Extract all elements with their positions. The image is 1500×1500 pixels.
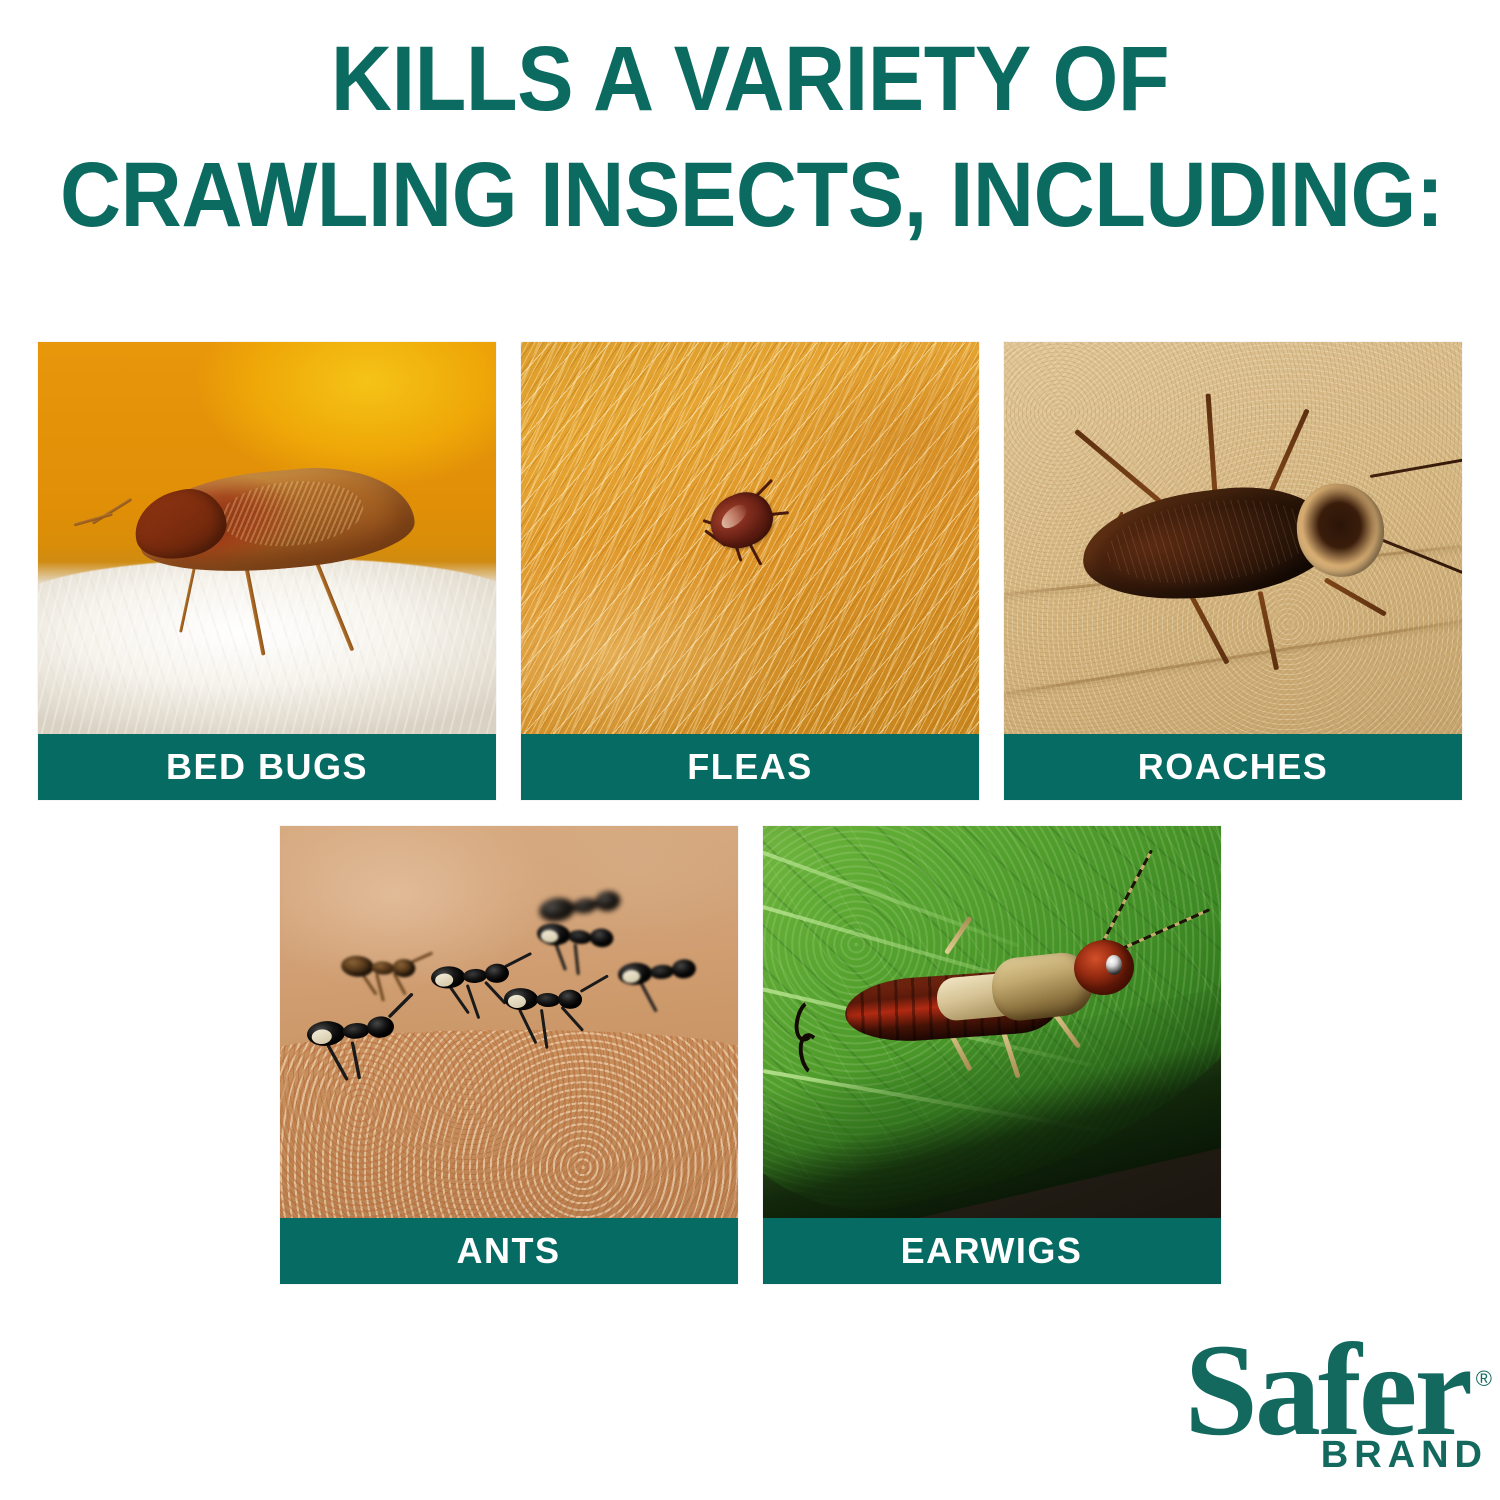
- caption-bar-bed-bugs: BED BUGS: [38, 734, 496, 800]
- ant-head: [366, 1015, 395, 1039]
- flea-photo: [521, 342, 979, 734]
- roach-photo: [1004, 342, 1462, 734]
- pest-tile-ants[interactable]: ANTS: [280, 826, 738, 1284]
- headline-line-2: CRAWLING INSECTS, INCLUDING:: [60, 138, 1440, 254]
- caption-bar-earwigs: EARWIGS: [763, 1218, 1221, 1284]
- pest-tile-bed-bugs[interactable]: BED BUGS: [38, 342, 496, 800]
- caption-bar-roaches: ROACHES: [1004, 734, 1462, 800]
- pest-tile-fleas[interactable]: FLEAS: [521, 342, 979, 800]
- flea-tick-figure: [700, 479, 787, 561]
- ant-abdomen: [341, 955, 375, 978]
- registered-trademark-icon: ®: [1476, 1368, 1492, 1390]
- caption-bar-ants: ANTS: [280, 1218, 738, 1284]
- pest-tile-grid: BED BUGS FLEAS: [0, 342, 1500, 1284]
- ant-head: [593, 889, 621, 912]
- sand-grain-foreground: [280, 1030, 738, 1218]
- ant-thorax: [462, 969, 487, 984]
- earwig-eye: [1106, 955, 1122, 975]
- flea-body: [702, 484, 780, 556]
- white-fabric-shape: [38, 558, 496, 734]
- earwig-photo: [763, 826, 1221, 1218]
- ant-figure: [617, 952, 705, 992]
- ants-photo: [280, 826, 738, 1218]
- headline-line-1: KILLS A VARIETY OF: [60, 22, 1440, 138]
- caption-bar-fleas: FLEAS: [521, 734, 979, 800]
- caption-label: ROACHES: [1138, 746, 1329, 788]
- ant-gaster-highlight: [508, 994, 526, 1008]
- page-title: KILLS A VARIETY OF CRAWLING INSECTS, INC…: [0, 22, 1500, 254]
- caption-label: ANTS: [457, 1230, 561, 1272]
- bed-bug-photo: [38, 342, 496, 734]
- logo-tagline: BRAND: [1321, 1436, 1488, 1474]
- caption-label: BED BUGS: [166, 746, 368, 788]
- ant-figure: [503, 981, 590, 1018]
- ant-head: [558, 989, 583, 1009]
- ant-thorax: [571, 897, 598, 915]
- ant-head: [672, 959, 697, 980]
- caption-label: FLEAS: [687, 746, 813, 788]
- ant-head: [589, 927, 614, 948]
- pest-tile-earwigs[interactable]: EARWIGS: [763, 826, 1221, 1284]
- pest-tile-row-bottom: ANTS: [0, 826, 1500, 1284]
- ant-thorax: [342, 1022, 370, 1040]
- ant-figure: [340, 949, 424, 987]
- pest-tile-roaches[interactable]: ROACHES: [1004, 342, 1462, 800]
- ant-thorax: [568, 929, 593, 945]
- safer-brand-logo: Safer ® BRAND: [1162, 1324, 1492, 1494]
- ant-thorax: [536, 992, 560, 1007]
- pest-tile-row-top: BED BUGS FLEAS: [0, 342, 1500, 800]
- caption-label: EARWIGS: [901, 1230, 1083, 1272]
